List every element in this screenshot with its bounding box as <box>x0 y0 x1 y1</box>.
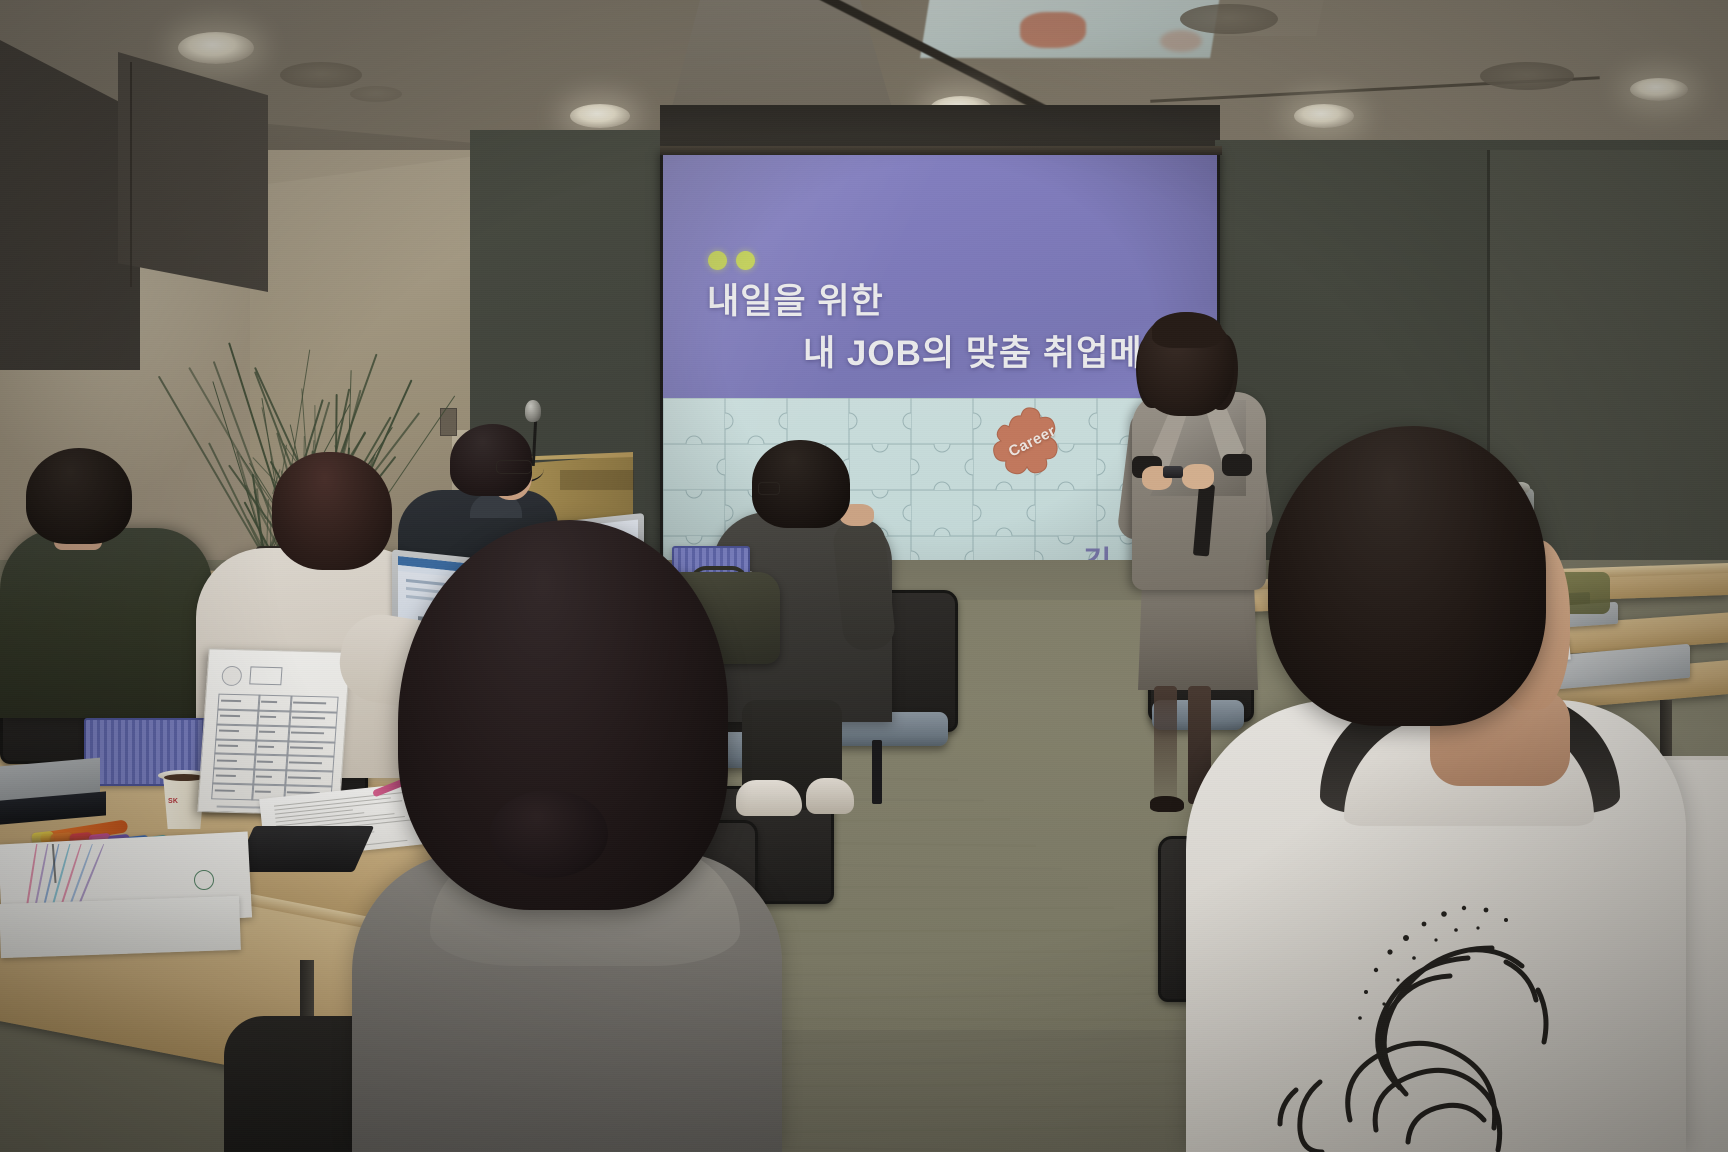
photo-scene: 내일을 위한 내 JOB의 맞춤 취업메이킹 Career 김 현 <box>0 0 1728 1152</box>
presenter-leg <box>1154 686 1177 806</box>
downlight-icon <box>178 32 254 64</box>
shoe-icon <box>806 778 854 814</box>
ceiling-reflection-puzzle-icon <box>1020 12 1086 48</box>
ceiling-speaker-icon <box>280 62 362 88</box>
schedule-form-card <box>197 648 351 815</box>
form-table-text <box>261 701 277 703</box>
microphone-icon <box>525 400 541 422</box>
ceiling-reflection-smudge <box>1160 30 1202 52</box>
paper-cup-coffee <box>164 774 204 781</box>
glasses-icon <box>496 460 532 474</box>
form-table-text <box>257 760 273 762</box>
participant-head <box>272 452 392 570</box>
presenter-hair-fringe <box>1152 312 1222 348</box>
presenter-shoe-icon <box>1150 796 1184 812</box>
form-seal-icon <box>221 666 242 686</box>
ceiling-speaker-icon <box>1480 62 1574 90</box>
form-table-text <box>260 716 276 718</box>
participant-head-foreground-right <box>1268 426 1546 726</box>
ceiling-speaker-icon <box>350 86 402 102</box>
shoe-icon <box>736 780 802 816</box>
downlight-icon <box>1630 78 1688 101</box>
mousepad <box>234 826 374 872</box>
wall-cabinet-seam <box>130 62 132 287</box>
participant-head <box>26 448 132 544</box>
podium-shadow <box>560 470 634 490</box>
form-table-text <box>255 790 271 792</box>
glasses-icon <box>758 482 780 495</box>
chair-post <box>872 740 882 804</box>
jacket-swirl-pattern-icon <box>1200 790 1560 1152</box>
form-table <box>211 694 336 801</box>
participant-body <box>0 528 212 718</box>
hair-ponytail <box>490 790 608 878</box>
form-title-box <box>249 666 282 685</box>
presenter-hand <box>1182 464 1214 489</box>
projection-screen-roller <box>660 146 1222 155</box>
presentation-clicker-icon[interactable] <box>1163 466 1183 478</box>
booklet-stack <box>0 896 241 958</box>
ceiling-speaker-icon <box>1180 4 1278 34</box>
paper-cup-logo: SK <box>168 798 178 805</box>
form-table-text <box>259 731 275 733</box>
downlight-icon <box>1294 104 1354 128</box>
presenter-cuff <box>1222 454 1252 476</box>
downlight-icon <box>570 104 630 128</box>
booklet-logo-icon <box>194 870 214 890</box>
form-table-text <box>258 746 274 748</box>
form-table-text <box>256 775 272 777</box>
